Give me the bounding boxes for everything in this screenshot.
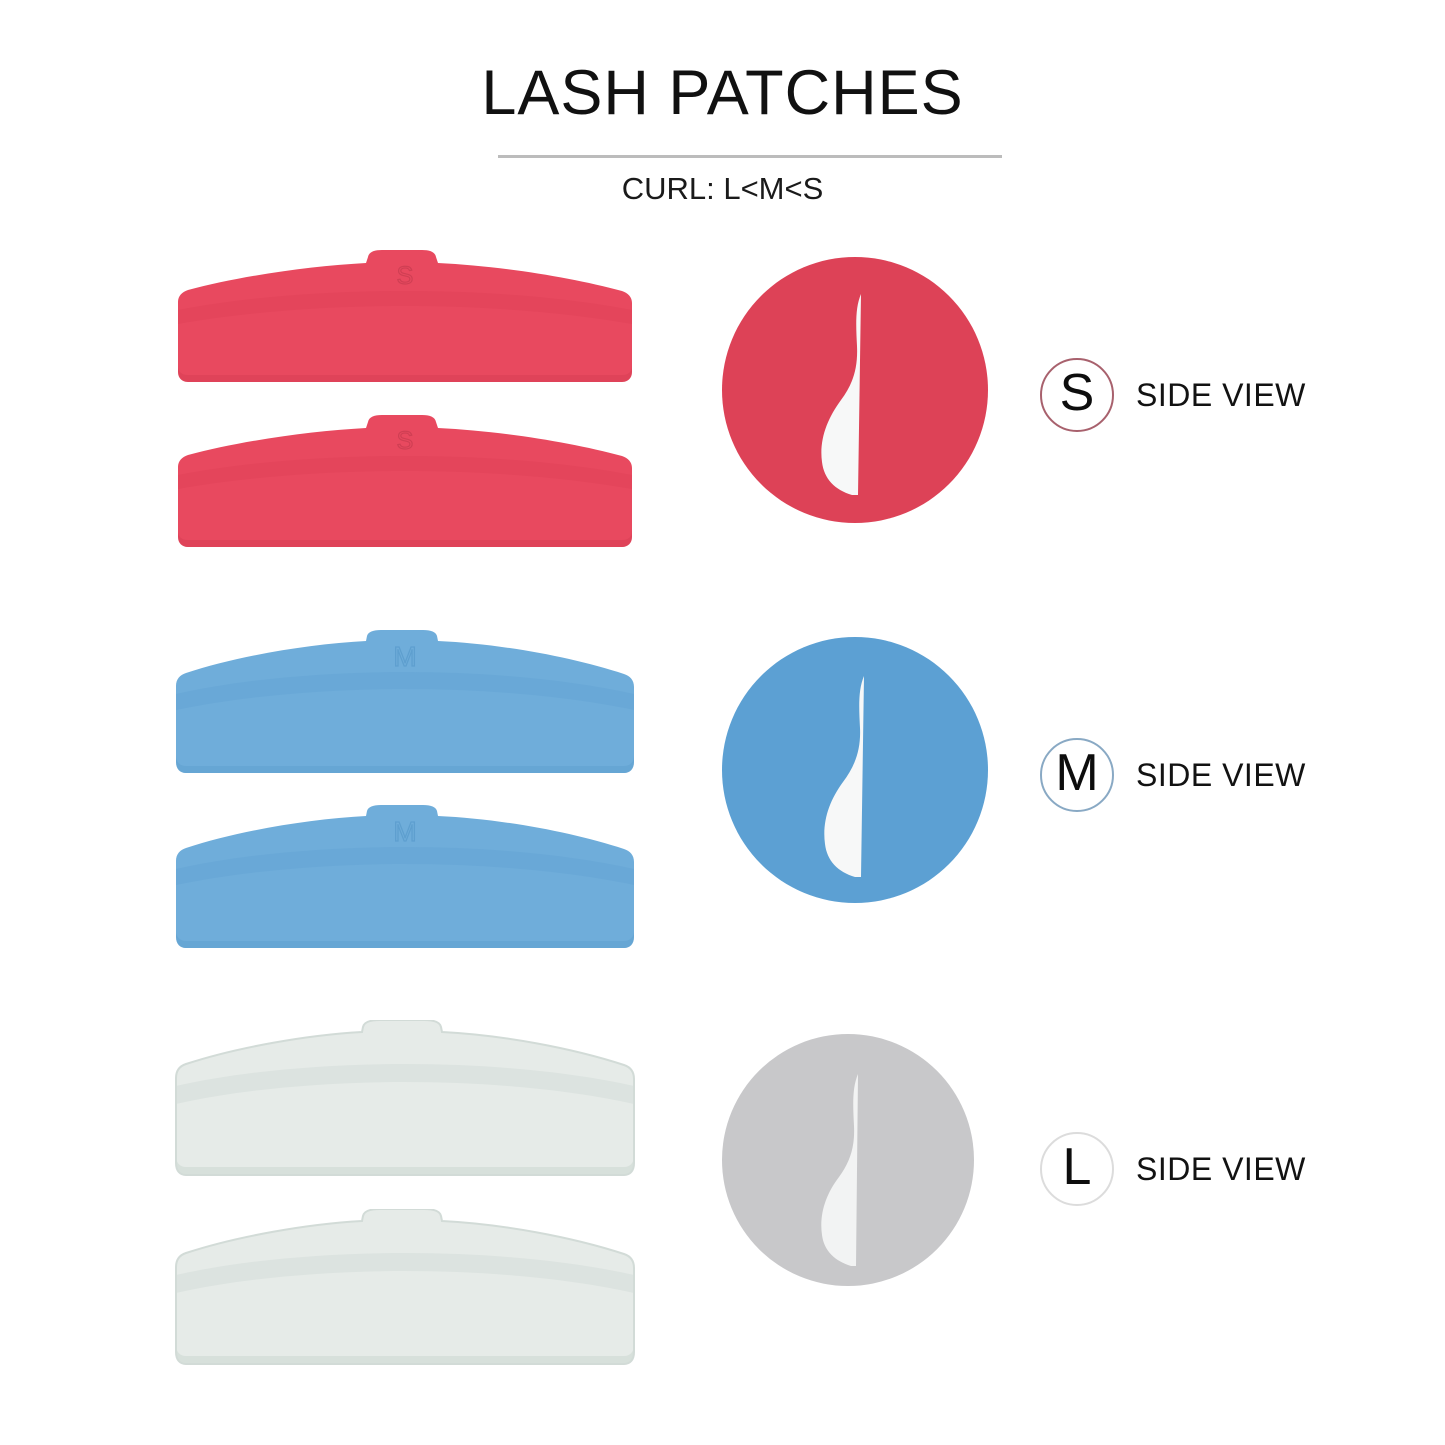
size-row-l: L SIDE VIEW bbox=[0, 1020, 1445, 1380]
patch-item bbox=[170, 1020, 640, 1185]
side-view-swatch-s bbox=[715, 250, 995, 530]
lash-patch-s-2: S bbox=[170, 415, 640, 555]
lash-patch-m-2: M bbox=[170, 805, 640, 955]
side-view-swatch-m bbox=[715, 630, 995, 910]
patch-item bbox=[170, 1209, 640, 1374]
patch-emboss-letter-s: S bbox=[397, 427, 414, 455]
size-badge-letter: S bbox=[1060, 367, 1095, 419]
title-divider bbox=[498, 155, 1002, 158]
patch-item: S bbox=[170, 415, 640, 560]
patch-pair-m: M M bbox=[170, 630, 650, 960]
patch-pair-l bbox=[170, 1020, 650, 1374]
patch-emboss-letter-m: M bbox=[393, 641, 416, 672]
lash-patch-m-1: M bbox=[170, 630, 640, 780]
page-title: LASH PATCHES bbox=[0, 62, 1445, 125]
side-view-swatch-l bbox=[718, 1030, 998, 1310]
size-badge-row-m: M SIDE VIEW bbox=[1040, 738, 1306, 812]
side-view-label: SIDE VIEW bbox=[1136, 1151, 1306, 1188]
size-badge-letter: L bbox=[1063, 1141, 1092, 1193]
lash-patch-l-1 bbox=[170, 1020, 640, 1180]
size-row-s: S S S S SIDE VIEW bbox=[0, 250, 1445, 590]
patch-item: M bbox=[170, 805, 640, 960]
patch-item: M bbox=[170, 630, 640, 785]
size-badge-l: L bbox=[1040, 1132, 1114, 1206]
size-badge-m: M bbox=[1040, 738, 1114, 812]
size-row-m: M M M SIDE VIEW bbox=[0, 630, 1445, 970]
size-badge-s: S bbox=[1040, 358, 1114, 432]
size-badge-row-l: L SIDE VIEW bbox=[1040, 1132, 1306, 1206]
lash-patch-s-1: S S bbox=[170, 250, 640, 390]
side-view-label: SIDE VIEW bbox=[1136, 757, 1306, 794]
patch-emboss-letter-s: S bbox=[397, 262, 414, 290]
size-badge-row-s: S SIDE VIEW bbox=[1040, 358, 1306, 432]
page-subtitle: CURL: L<M<S bbox=[0, 173, 1445, 204]
header: LASH PATCHES CURL: L<M<S bbox=[0, 0, 1445, 240]
side-view-label: SIDE VIEW bbox=[1136, 377, 1306, 414]
size-badge-letter: M bbox=[1055, 747, 1098, 799]
patch-item: S S bbox=[170, 250, 640, 395]
lash-patch-l-2 bbox=[170, 1209, 640, 1369]
patch-pair-s: S S S bbox=[170, 250, 650, 560]
patch-emboss-letter-m: M bbox=[393, 816, 416, 847]
